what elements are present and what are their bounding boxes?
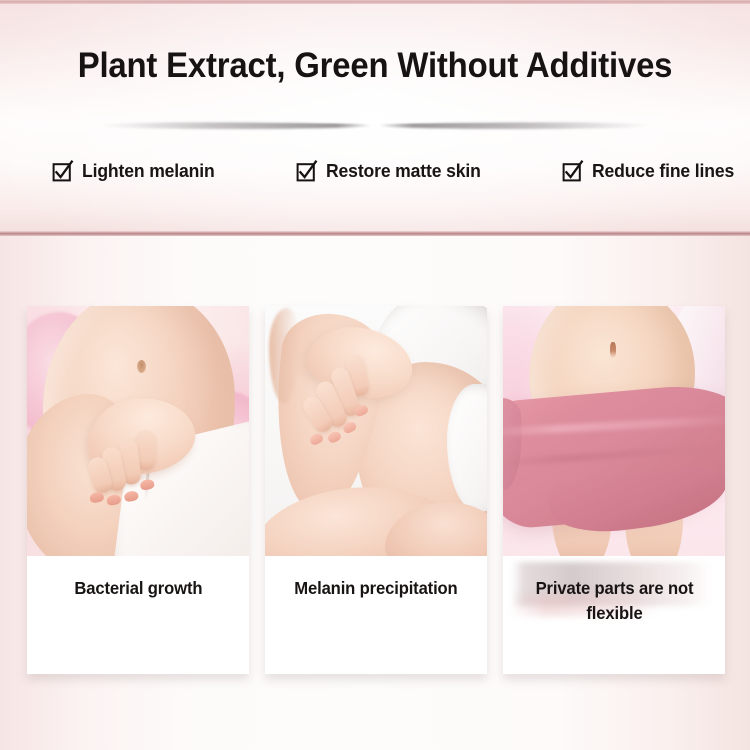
swoosh-left — [98, 122, 370, 129]
navel-shape — [137, 360, 146, 373]
card-row: Bacterial growth — [27, 306, 725, 674]
navel-shape — [610, 342, 616, 358]
gallery-card-melanin-precipitation[interactable]: Melanin precipitation — [265, 306, 487, 674]
card-caption: Melanin precipitation — [294, 576, 457, 601]
top-rule — [0, 0, 750, 4]
page-title: Plant Extract, Green Without Additives — [23, 44, 728, 88]
feature-label: Lighten melanin — [82, 160, 215, 182]
card-photo-private-parts — [503, 306, 725, 556]
swoosh-right — [380, 122, 652, 129]
feature-item-lighten-melanin[interactable]: Lighten melanin — [52, 160, 222, 182]
card-photo-melanin-precipitation — [265, 306, 487, 556]
checkbox-checked-icon[interactable] — [562, 160, 584, 182]
gallery-card-private-parts-not-flexible[interactable]: Private parts are not flexible — [503, 306, 725, 674]
gallery-card-bacterial-growth[interactable]: Bacterial growth — [27, 306, 249, 674]
header-section: Plant Extract, Green Without Additives L… — [0, 0, 750, 236]
card-caption: Bacterial growth — [74, 576, 202, 601]
feature-item-restore-matte-skin[interactable]: Restore matte skin — [296, 160, 489, 182]
title-underline-swoosh — [98, 116, 652, 132]
card-caption-wrapper: Bacterial growth — [27, 556, 249, 674]
card-caption: Private parts are not flexible — [517, 576, 712, 626]
checkbox-checked-icon[interactable] — [296, 160, 318, 182]
card-photo-bacterial-growth — [27, 306, 249, 556]
header-sheen — [0, 0, 750, 236]
gallery-section: Bacterial growth — [0, 236, 750, 750]
feature-item-reduce-fine-lines[interactable]: Reduce fine lines — [562, 160, 742, 182]
card-caption-wrapper: Melanin precipitation — [265, 556, 487, 674]
feature-list: Lighten melanin Restore matte skin — [52, 160, 742, 182]
feature-label: Reduce fine lines — [592, 160, 734, 182]
card-caption-wrapper: Private parts are not flexible — [503, 556, 725, 674]
promo-poster: Plant Extract, Green Without Additives L… — [0, 0, 750, 750]
swoosh-highlight — [138, 119, 612, 123]
checkbox-checked-icon[interactable] — [52, 160, 74, 182]
feature-label: Restore matte skin — [326, 160, 481, 182]
